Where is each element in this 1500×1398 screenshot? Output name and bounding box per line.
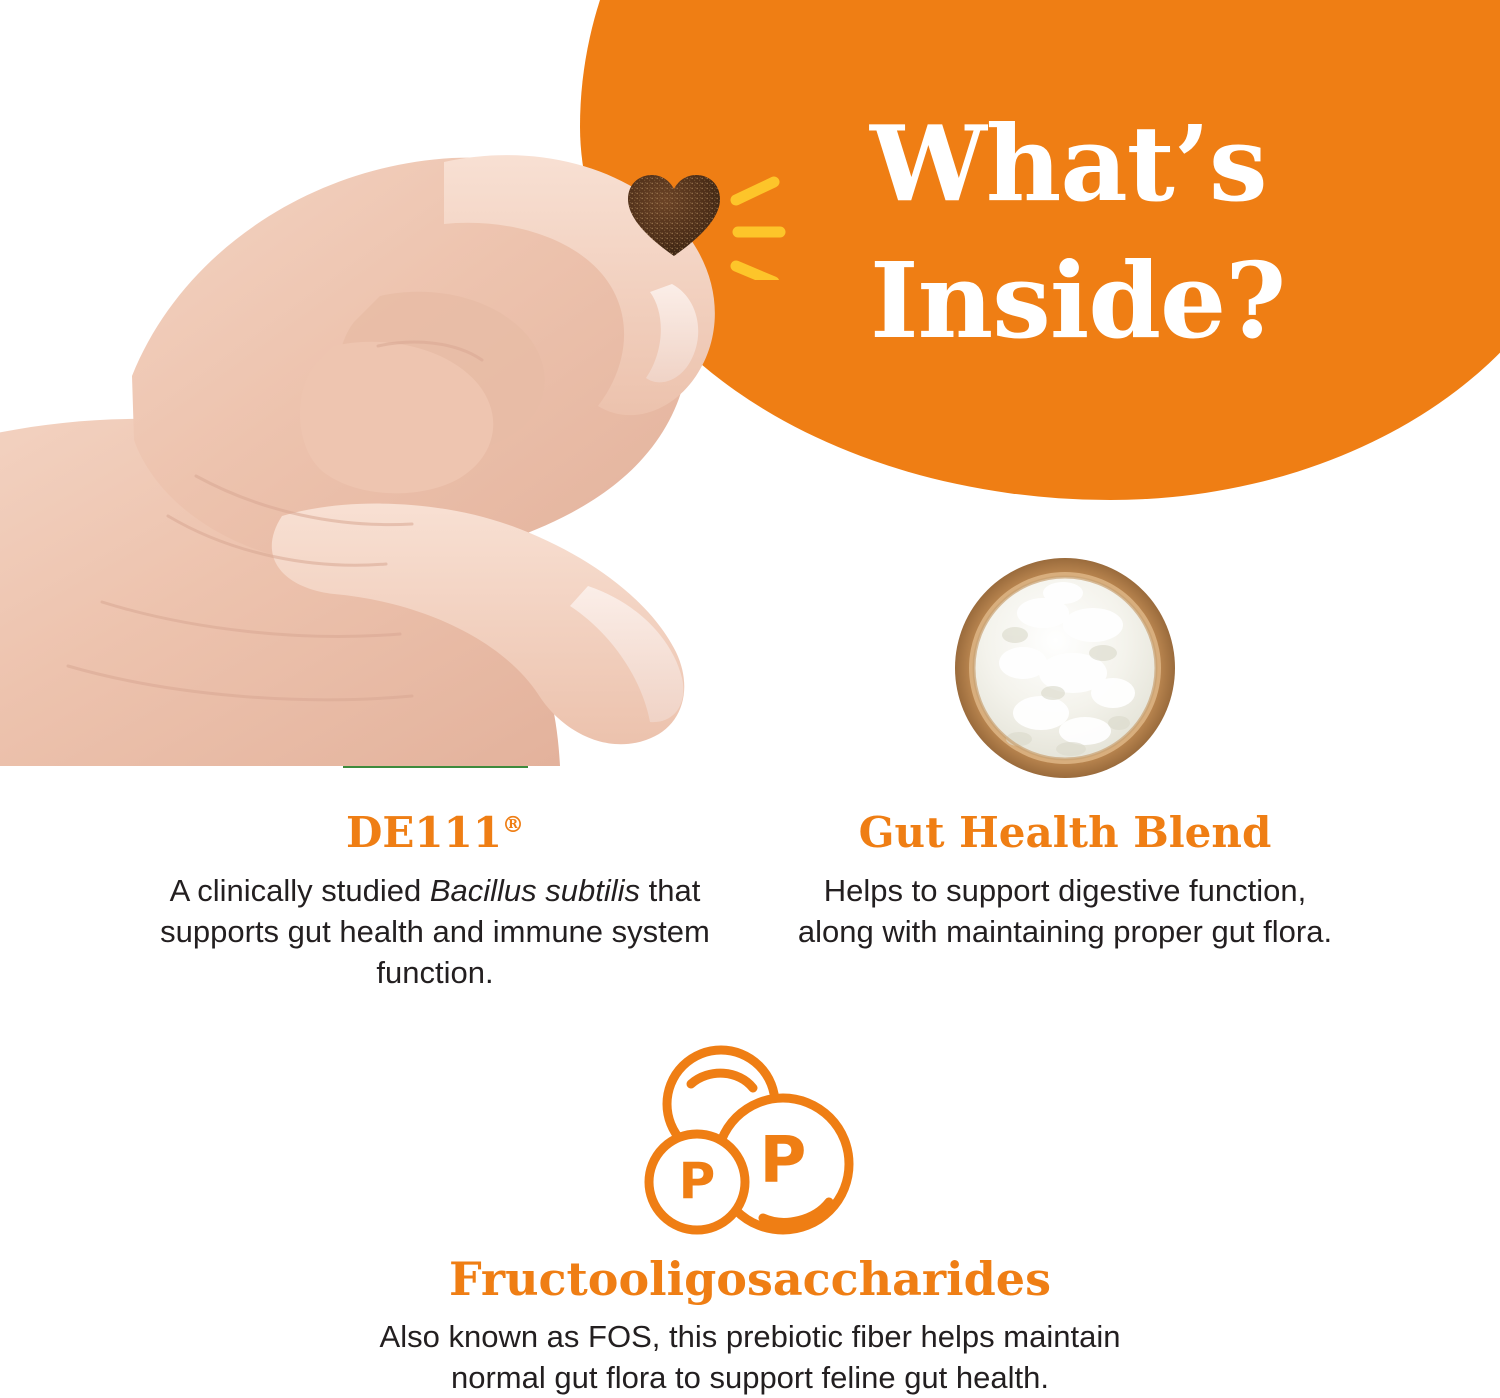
- prebiotic-art: P P: [635, 1042, 865, 1242]
- sparkle-rays-icon: [726, 170, 806, 280]
- ingredient-card-gut-health-blend: Gut Health Blend Helps to support digest…: [755, 545, 1375, 952]
- body-part-1: A clinically studied: [170, 873, 430, 908]
- page-title-line2: Inside?: [870, 232, 1430, 369]
- ingredient-body-de111: A clinically studied Bacillus subtilis t…: [155, 870, 715, 994]
- prebiotic-circles-icon: P P: [635, 1042, 865, 1242]
- hand-holding-heart-treat: [0, 46, 742, 766]
- bowl-of-white-powder: [953, 553, 1178, 783]
- ingredient-body-gut-health-blend: Helps to support digestive function, alo…: [785, 870, 1345, 952]
- heart-shaped-treat: [626, 172, 722, 260]
- heart-treat-icon: [626, 172, 722, 260]
- ingredient-title-de111: DE111®: [346, 812, 524, 854]
- hand-icon: [0, 46, 742, 766]
- page-title-line1: What’s: [870, 102, 1267, 225]
- infographic-canvas: What’s Inside?: [0, 0, 1500, 1393]
- svg-text:P: P: [760, 1124, 807, 1198]
- ingredient-title-fructooligosaccharides: Fructooligosaccharides: [449, 1256, 1051, 1302]
- sparkle-dashes: [726, 170, 806, 280]
- ingredient-title-text: DE111: [346, 808, 502, 857]
- page-title: What’s Inside?: [870, 95, 1430, 370]
- ingredient-title-gut-health-blend: Gut Health Blend: [859, 812, 1272, 854]
- body-species-name: Bacillus subtilis: [430, 873, 640, 908]
- ingredient-card-fructooligosaccharides: P P Fructooligosaccharides Also known as…: [0, 1042, 1500, 1398]
- ingredient-body-fructooligosaccharides: Also known as FOS, this prebiotic fiber …: [330, 1316, 1170, 1398]
- bowl-art: [953, 545, 1178, 790]
- svg-text:P: P: [679, 1152, 716, 1210]
- registered-mark: ®: [502, 812, 524, 838]
